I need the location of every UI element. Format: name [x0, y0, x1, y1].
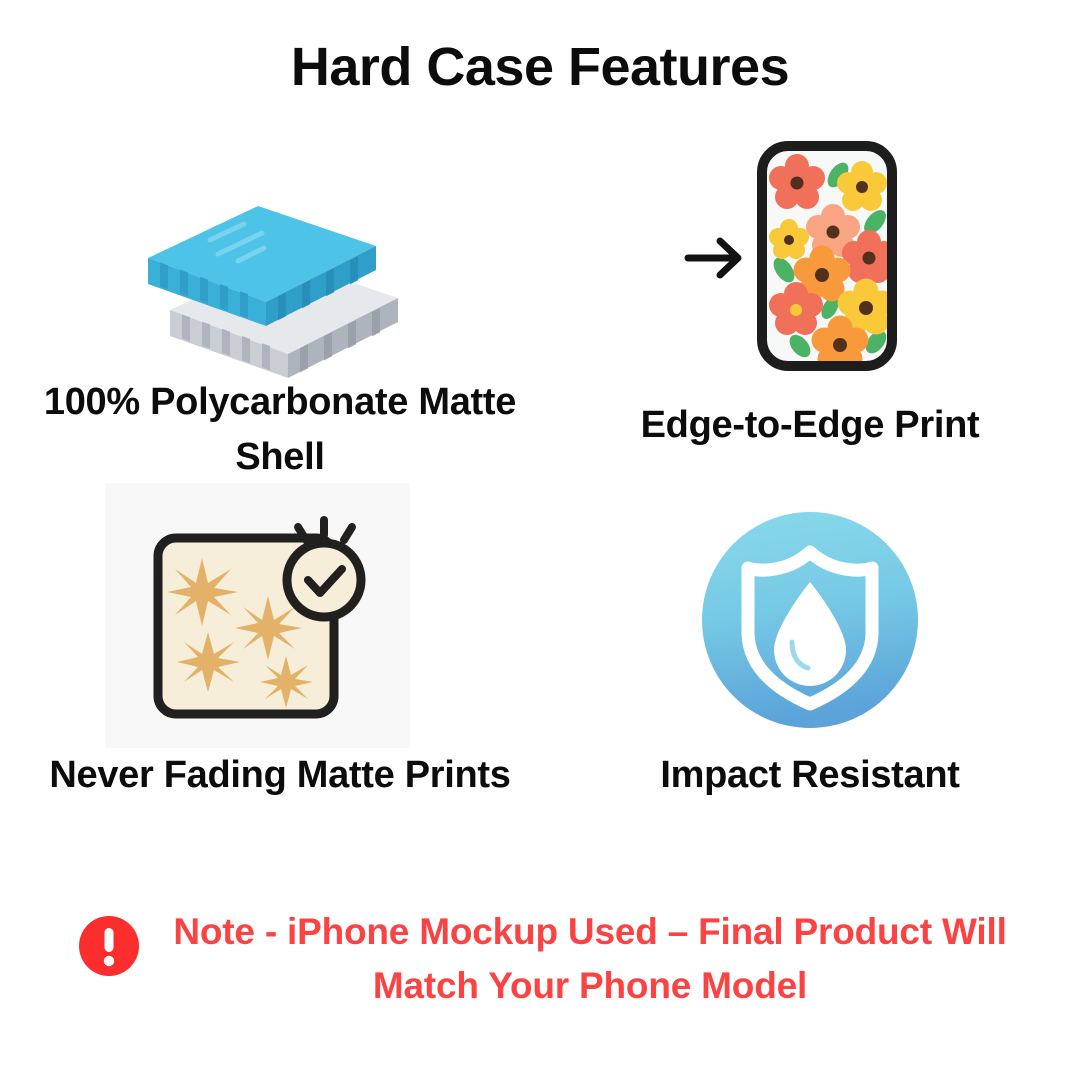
- feature-label-polycarbonate-shell: 100% Polycarbonate Matte Shell: [30, 375, 530, 485]
- feature-infographic: Hard Case Features: [0, 0, 1080, 1080]
- sparkle-square-check-icon: [140, 510, 390, 730]
- note-text: Note - iPhone Mockup Used – Final Produc…: [150, 905, 1030, 1012]
- feature-card-edge-to-edge-print: Edge-to-Edge Print: [560, 120, 1060, 480]
- note-banner: Note - iPhone Mockup Used – Final Produc…: [0, 905, 1080, 1025]
- page-title: Hard Case Features: [0, 36, 1080, 98]
- shield-droplet-icon: [700, 510, 920, 730]
- exclamation-circle-icon: [78, 915, 140, 977]
- feature-card-impact-resistant: Impact Resistant: [560, 480, 1060, 860]
- feature-card-polycarbonate-shell: 100% Polycarbonate Matte Shell: [30, 150, 530, 490]
- stacked-layers-icon: [140, 170, 420, 370]
- feature-card-never-fading-prints: Never Fading Matte Prints: [30, 470, 530, 870]
- floral-phone-case-icon: [670, 130, 950, 380]
- feature-label-edge-to-edge-print: Edge-to-Edge Print: [560, 398, 1060, 453]
- arrow-right-icon: [688, 241, 738, 275]
- feature-label-never-fading-prints: Never Fading Matte Prints: [30, 748, 530, 803]
- feature-label-impact-resistant: Impact Resistant: [560, 748, 1060, 803]
